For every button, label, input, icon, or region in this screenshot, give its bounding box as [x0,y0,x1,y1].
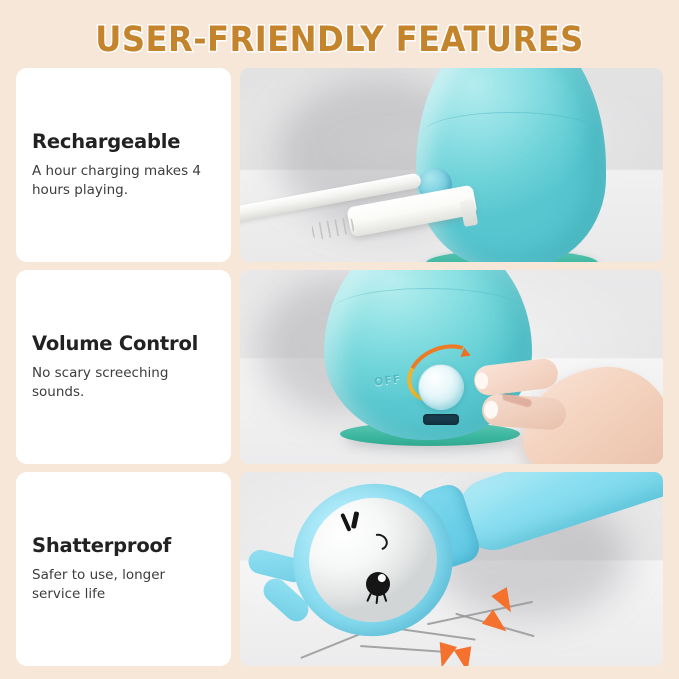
speaker-slot [423,414,459,425]
feature-image-rechargeable [240,68,663,262]
feature-body-volume-control: No scary screeching sounds. [32,364,215,401]
feature-body-rechargeable: A hour charging makes 4 hours playing. [32,162,215,199]
feature-heading-volume-control: Volume Control [32,332,215,355]
feature-card-volume-control: Volume Control No scary screeching sound… [16,270,231,464]
fingernail [474,371,489,389]
toy-seam-line [332,288,524,333]
toy-body [416,68,606,262]
feature-row-shatterproof: Shatterproof Safer to use, longer servic… [16,472,663,666]
feature-card-rechargeable: Rechargeable A hour charging makes 4 hou… [16,68,231,262]
feature-heading-rechargeable: Rechargeable [32,130,215,153]
feature-rows: Rechargeable A hour charging makes 4 hou… [16,68,663,667]
volume-knob[interactable] [418,364,464,410]
page-title-container: USER-FRIENDLY FEATURES [0,14,679,66]
feature-row-volume-control: Volume Control No scary screeching sound… [16,270,663,464]
feature-heading-shatterproof: Shatterproof [32,534,215,557]
page-title: USER-FRIENDLY FEATURES [95,20,584,60]
fingernail [483,400,498,419]
toy-seam-line [422,112,600,155]
feature-body-shatterproof: Safer to use, longer service life [32,566,215,603]
feature-infographic-page: USER-FRIENDLY FEATURES Rechargeable A ho… [0,0,679,679]
face-eyebrow [341,511,364,536]
feature-card-shatterproof: Shatterproof Safer to use, longer servic… [16,472,231,666]
feature-row-rechargeable: Rechargeable A hour charging makes 4 hou… [16,68,663,262]
hand [468,344,663,464]
feature-image-shatterproof [240,472,663,666]
feature-image-volume-control: OFF ON [240,270,663,464]
